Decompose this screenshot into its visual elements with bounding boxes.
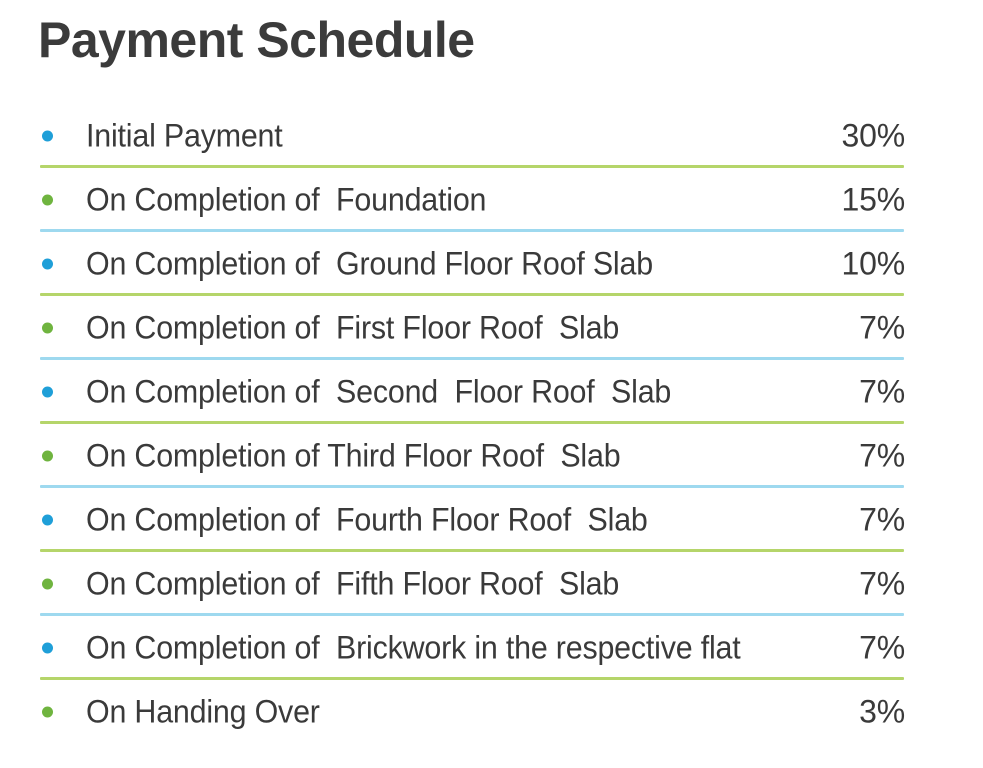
bullet-icon: [42, 707, 53, 718]
bullet-icon: [42, 515, 53, 526]
milestone-percentage: 3%: [859, 694, 905, 731]
milestone-label: On Completion of Foundation: [86, 182, 486, 219]
milestone-label: On Completion of Fourth Floor Roof Slab: [86, 502, 648, 539]
milestone-percentage: 30%: [842, 118, 905, 155]
milestone-label: On Completion of Ground Floor Roof Slab: [86, 246, 653, 283]
milestone-percentage: 7%: [859, 374, 905, 411]
milestone-label: On Completion of Third Floor Roof Slab: [86, 438, 620, 475]
milestone-percentage: 15%: [842, 182, 905, 219]
bullet-icon: [42, 259, 53, 270]
bullet-icon: [42, 643, 53, 654]
schedule-row: On Completion of Third Floor Roof Slab7%: [0, 424, 983, 488]
milestone-percentage: 7%: [859, 310, 905, 347]
schedule-row: On Completion of First Floor Roof Slab7%: [0, 296, 983, 360]
schedule-row: Initial Payment30%: [0, 104, 983, 168]
milestone-percentage: 7%: [859, 502, 905, 539]
schedule-row: On Completion of Fourth Floor Roof Slab7…: [0, 488, 983, 552]
milestone-percentage: 10%: [842, 246, 905, 283]
bullet-icon: [42, 579, 53, 590]
milestone-label: On Completion of Brickwork in the respec…: [86, 630, 741, 667]
schedule-row: On Completion of Brickwork in the respec…: [0, 616, 983, 680]
milestone-label: Initial Payment: [86, 118, 283, 155]
milestone-label: On Completion of Fifth Floor Roof Slab: [86, 566, 619, 603]
schedule-row: On Handing Over3%: [0, 680, 983, 744]
schedule-row: On Completion of Fifth Floor Roof Slab7%: [0, 552, 983, 616]
bullet-icon: [42, 451, 53, 462]
milestone-percentage: 7%: [859, 438, 905, 475]
page-title: Payment Schedule: [38, 12, 475, 70]
payment-schedule-list: Initial Payment30%On Completion of Found…: [0, 104, 983, 744]
bullet-icon: [42, 195, 53, 206]
bullet-icon: [42, 323, 53, 334]
schedule-row: On Completion of Ground Floor Roof Slab1…: [0, 232, 983, 296]
milestone-label: On Completion of First Floor Roof Slab: [86, 310, 619, 347]
milestone-label: On Completion of Second Floor Roof Slab: [86, 374, 671, 411]
milestone-percentage: 7%: [859, 566, 905, 603]
schedule-row: On Completion of Second Floor Roof Slab7…: [0, 360, 983, 424]
payment-schedule-page: Payment Schedule Initial Payment30%On Co…: [0, 0, 983, 768]
bullet-icon: [42, 387, 53, 398]
milestone-percentage: 7%: [859, 630, 905, 667]
bullet-icon: [42, 131, 53, 142]
milestone-label: On Handing Over: [86, 694, 320, 731]
schedule-row: On Completion of Foundation15%: [0, 168, 983, 232]
